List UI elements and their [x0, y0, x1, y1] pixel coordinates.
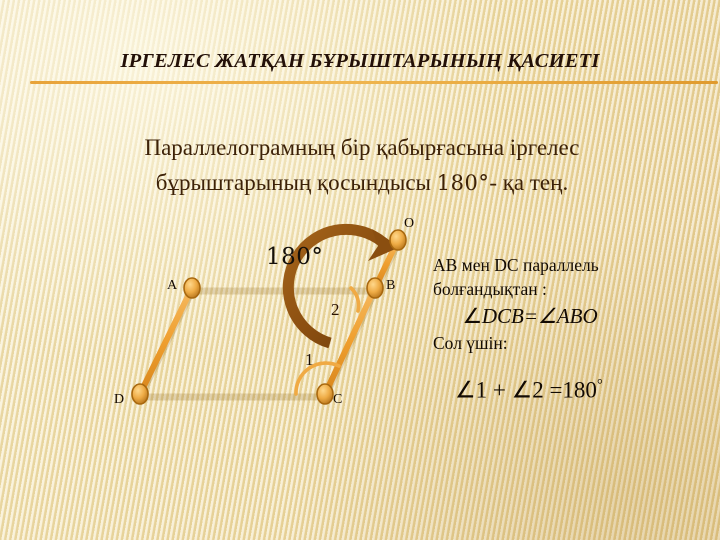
vertex-A-dot — [184, 278, 200, 298]
formula-1-equals: =∠ — [524, 304, 557, 328]
explanation-line-2: болғандықтан : — [433, 277, 713, 301]
diagram-svg — [100, 205, 440, 430]
vertex-label-A: A — [167, 278, 177, 294]
formula-1-dcb: DCB — [482, 304, 524, 328]
vertex-label-D: D — [114, 392, 124, 408]
title-underline — [30, 81, 718, 84]
parallelogram-diagram — [100, 205, 440, 430]
vertex-B-dot — [367, 278, 383, 298]
explanation-block: AB мен DC параллель болғандықтан : ∠DCB=… — [433, 253, 713, 407]
vertex-D-dot — [132, 384, 148, 404]
formula-2-text: ∠1 + ∠2 =180 — [455, 378, 597, 403]
formula-1-abo: ABO — [557, 304, 598, 328]
body-line-2-prefix: бұрыштарының қосындысы — [156, 170, 437, 195]
body-line-2-suffix: - қа тең. — [489, 170, 568, 195]
formula-2-degree: ° — [597, 377, 603, 393]
body-line-1: Параллелограмның бір қабырғасына іргелес — [144, 130, 579, 165]
vertex-label-C: C — [333, 392, 342, 408]
body-paragraph: Параллелограмның бір қабырғасына іргелес… — [62, 130, 662, 201]
explanation-formula-2: ∠1 + ∠2 =180° — [455, 369, 713, 407]
title-block: ІРГЕЛЕС ЖАТҚАН БҰРЫШТАРЫНЫҢ ҚАСИЕТІ — [0, 50, 720, 96]
explanation-formula-1: ∠DCB=∠ABO — [463, 301, 713, 331]
vertex-C-dot — [317, 384, 333, 404]
angle-2-label: 2 — [331, 300, 340, 320]
vertex-label-B: B — [386, 278, 395, 294]
angle-1-label: 1 — [305, 350, 314, 370]
explanation-line-3: Сол үшін: — [433, 331, 713, 355]
explanation-line-1: AB мен DC параллель — [433, 253, 713, 277]
vertex-label-O: O — [404, 216, 414, 232]
page-title: ІРГЕЛЕС ЖАТҚАН БҰРЫШТАРЫНЫҢ ҚАСИЕТІ — [0, 50, 720, 73]
body-line-2-number: 180° — [437, 171, 490, 195]
edge-DA — [140, 288, 192, 394]
angle-symbol-1: ∠ — [463, 301, 483, 331]
vertex-O-dot — [390, 230, 406, 250]
slide-canvas: ІРГЕЛЕС ЖАТҚАН БҰРЫШТАРЫНЫҢ ҚАСИЕТІ Пара… — [0, 0, 720, 540]
rotation-angle-label: 180° — [266, 244, 323, 270]
